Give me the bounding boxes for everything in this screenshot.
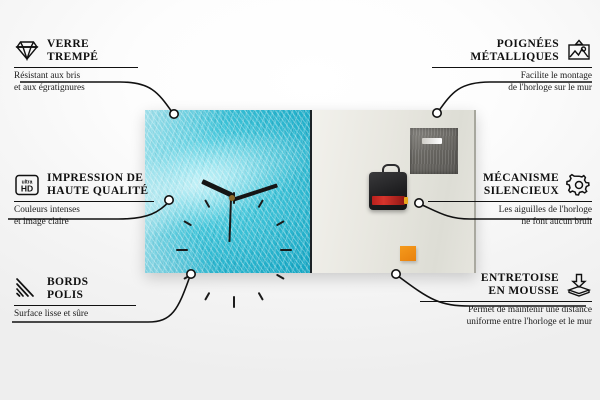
callout-impression-haute-qualite[interactable]: ultra HD IMPRESSION DEHAUTE QUALITÉ Coul…	[14, 172, 154, 228]
callout-rule	[14, 67, 138, 68]
callout-title: ENTRETOISEEN MOUSSE	[481, 272, 559, 298]
callout-rule	[14, 305, 136, 306]
clock-minute-hand	[232, 183, 278, 201]
gear-icon	[566, 173, 592, 197]
aa-battery	[372, 196, 405, 205]
callout-title: POIGNÉESMÉTALLIQUES	[470, 38, 559, 64]
callout-rule	[420, 301, 592, 302]
battery-terminal	[404, 197, 408, 204]
svg-text:HD: HD	[21, 184, 33, 194]
plate-highlight	[422, 138, 442, 144]
callout-title: BORDSPOLIS	[47, 276, 88, 302]
callout-title: MÉCANISMESILENCIEUX	[483, 172, 559, 198]
clock-face	[145, 110, 320, 273]
metal-hanger-plate	[410, 128, 458, 174]
diamond-icon	[14, 39, 40, 63]
callout-desc: Résistant aux briset aux égratignures	[14, 71, 138, 94]
callout-desc: Couleurs intenseset image claire	[14, 205, 154, 228]
callout-rule	[428, 201, 592, 202]
callout-rule	[432, 67, 592, 68]
foam-spacer-icon	[566, 273, 592, 297]
callout-poignees-metalliques[interactable]: POIGNÉESMÉTALLIQUES Facilite le montaged…	[432, 38, 592, 94]
callout-desc: Permet de maintenir une distanceuniforme…	[420, 305, 592, 328]
callout-rule	[14, 201, 154, 202]
callout-title: IMPRESSION DEHAUTE QUALITÉ	[47, 172, 148, 198]
callout-desc: Facilite le montagede l'horloge sur le m…	[432, 71, 592, 94]
callout-bords-polis[interactable]: BORDSPOLIS Surface lisse et sûre	[14, 276, 136, 321]
ultra-hd-icon: ultra HD	[14, 173, 40, 197]
callout-verre-trempe[interactable]: VERRETREMPÉ Résistant aux briset aux égr…	[14, 38, 138, 94]
product-infographic: VERRETREMPÉ Résistant aux briset aux égr…	[0, 0, 600, 400]
callout-entretoise-en-mousse[interactable]: ENTRETOISEEN MOUSSE Permet de maintenir …	[420, 272, 592, 328]
clock-center-cap	[229, 195, 235, 201]
foam-spacer	[400, 246, 416, 261]
callout-mecanisme-silencieux[interactable]: MÉCANISMESILENCIEUX Les aiguilles de l'h…	[428, 172, 592, 228]
callout-title: VERRETREMPÉ	[47, 38, 98, 64]
callout-desc: Surface lisse et sûre	[14, 309, 136, 321]
picture-hanger-icon	[566, 39, 592, 63]
callout-desc: Les aiguilles de l'horlogene font aucun …	[428, 205, 592, 228]
polished-edge-icon	[14, 277, 40, 301]
